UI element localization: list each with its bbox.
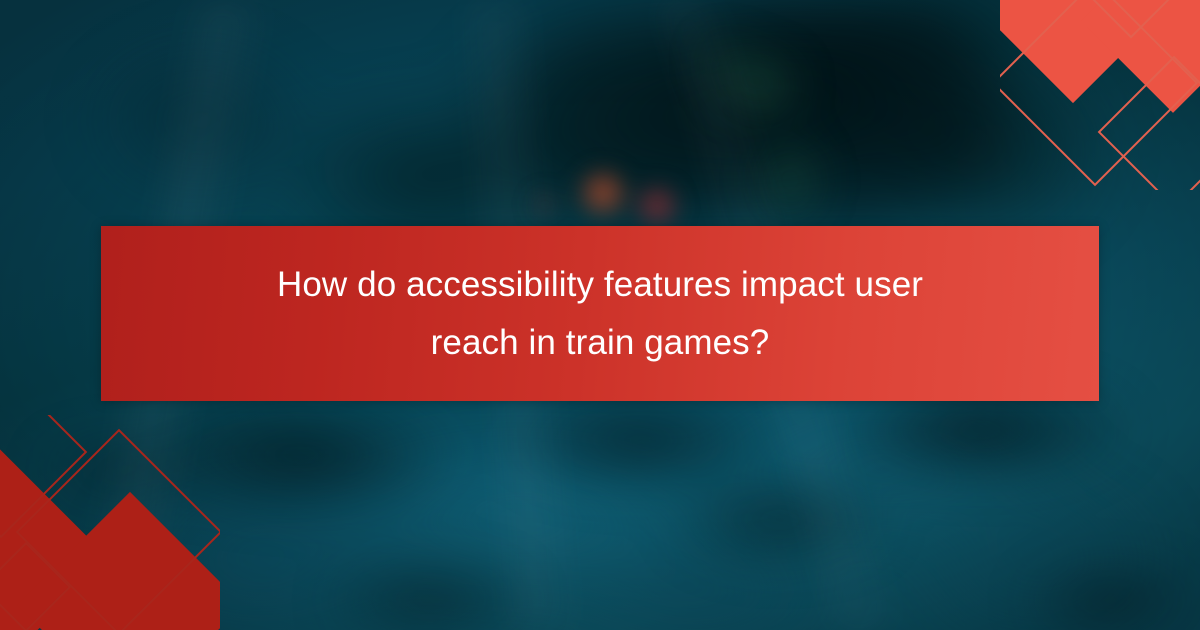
- solid-diamond-icon: [1081, 0, 1200, 113]
- outline-diamond-icon: [0, 542, 71, 630]
- solid-diamond-icon: [1000, 0, 1179, 103]
- outline-diamond-icon: [0, 415, 87, 538]
- outline-diamond-icon: [1000, 0, 1198, 186]
- outline-diamond-icon: [1098, 56, 1200, 190]
- solid-diamond-icon: [17, 492, 220, 630]
- outline-diamond-icon: [16, 429, 220, 630]
- headline-banner: How do accessibility features impact use…: [101, 226, 1099, 401]
- solid-diamond-icon: [0, 449, 109, 630]
- page-title: How do accessibility features impact use…: [184, 256, 1016, 370]
- outline-diamond-icon: [1082, 0, 1181, 38]
- diamond-cluster-bottom-left: [0, 415, 220, 630]
- share-card: How do accessibility features impact use…: [0, 0, 1200, 630]
- diamond-cluster-top-right: [1000, 0, 1200, 190]
